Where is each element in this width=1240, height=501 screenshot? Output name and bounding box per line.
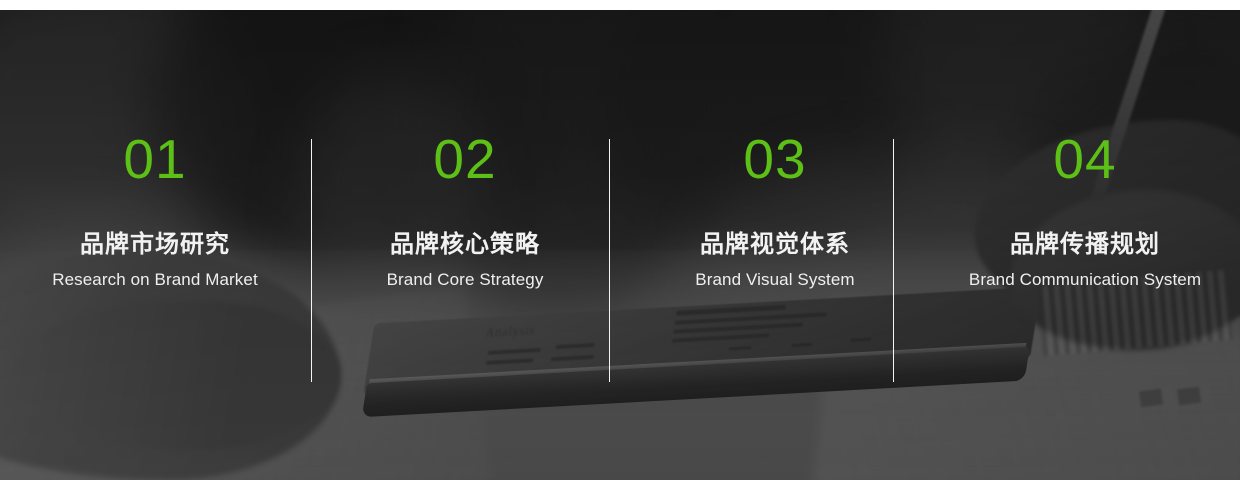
step-title: 品牌核心策略 [390, 231, 540, 257]
step-title: 品牌市场研究 [80, 231, 230, 257]
step-number: 04 [1053, 132, 1116, 187]
brand-process-banner: Analysis [0, 10, 1240, 480]
step-subtitle: Research on Brand Market [52, 270, 258, 290]
step-number: 03 [743, 132, 806, 187]
process-step-list: 01 品牌市场研究 Research on Brand Market 02 品牌… [0, 10, 1240, 480]
step-subtitle: Brand Visual System [695, 270, 854, 290]
page-root: Analysis [0, 0, 1240, 501]
process-step-02[interactable]: 02 品牌核心策略 Brand Core Strategy [310, 10, 620, 480]
step-title: 品牌传播规划 [1010, 231, 1160, 257]
process-step-04[interactable]: 04 品牌传播规划 Brand Communication System [930, 10, 1240, 480]
step-subtitle: Brand Core Strategy [387, 270, 544, 290]
step-number: 01 [123, 132, 186, 187]
process-step-01[interactable]: 01 品牌市场研究 Research on Brand Market [0, 10, 310, 480]
step-subtitle: Brand Communication System [969, 270, 1201, 290]
step-title: 品牌视觉体系 [700, 231, 850, 257]
step-number: 02 [433, 132, 496, 187]
process-step-03[interactable]: 03 品牌视觉体系 Brand Visual System [620, 10, 930, 480]
